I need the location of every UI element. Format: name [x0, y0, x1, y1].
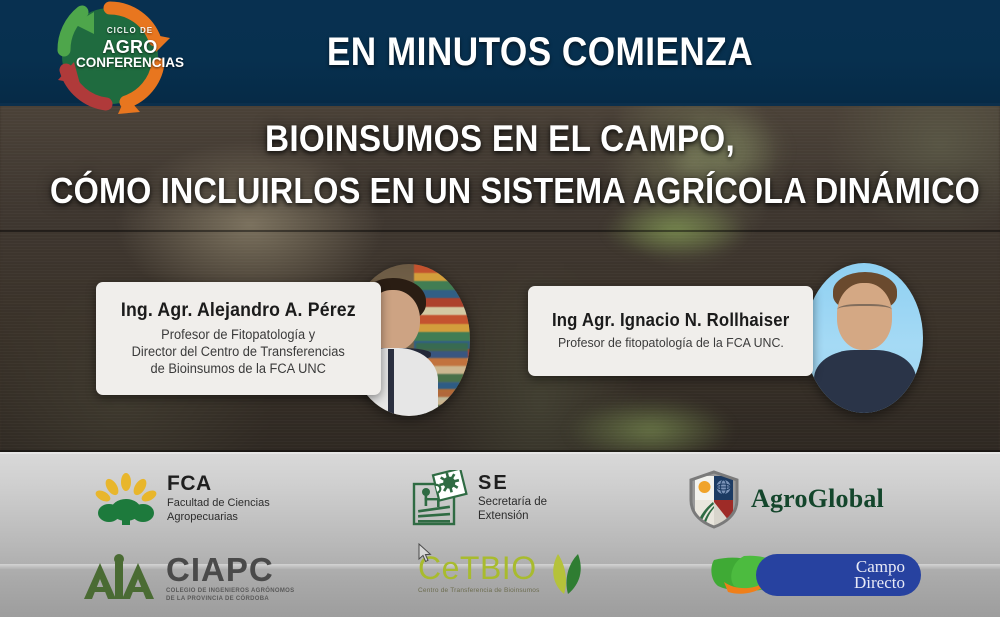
speaker-role-line: Profesor de fitopatología de la FCA UNC. — [558, 335, 784, 352]
agroglobal-name: AgroGlobal — [751, 484, 884, 514]
sponsor-ciapc: CIAPC COLEGIO DE INGENIEROS AGRÓNOMOS DE… — [82, 553, 294, 604]
sponsor-fca: FCA Facultad de Ciencias Agropecuarias — [95, 470, 270, 528]
logo-text-block: CICLO DE AGRO CONFERENCIAS — [74, 26, 186, 71]
speaker-name-2: Ing Agr. Ignacio N. Rollhaiser — [552, 310, 789, 331]
sponsor-cetbio: CeTBIO Centro de Transferencia de Bioins… — [418, 552, 588, 596]
ciapc-sub-2: DE LA PROVINCIA DE CÓRDOBA — [166, 596, 294, 604]
campo-directo-line-2: Directo — [854, 575, 905, 591]
speaker-info-card-1: Ing. Agr. Alejandro A. Pérez Profesor de… — [96, 282, 381, 395]
cetbio-name: CeTBIO — [418, 552, 540, 584]
fca-name: FCA — [167, 473, 270, 494]
speaker-role-line: Director del Centro de Transferencias — [132, 343, 345, 360]
speaker-photo-2 — [805, 263, 923, 413]
se-icon — [412, 470, 468, 526]
cetbio-leaf-icon — [546, 550, 588, 596]
band-divider — [0, 230, 1000, 232]
se-name: SE — [478, 473, 547, 493]
speaker-role-line: de Bioinsumos de la FCA UNC — [132, 360, 345, 377]
fca-text: FCA Facultad de Ciencias Agropecuarias — [167, 473, 270, 525]
se-sub-2: Extensión — [478, 509, 547, 523]
se-sub-1: Secretaría de — [478, 495, 547, 509]
ciapc-sub-1: COLEGIO DE INGENIEROS AGRÓNOMOS — [166, 588, 294, 596]
agro-conferencias-logo: CICLO DE AGRO CONFERENCIAS — [22, 0, 202, 118]
ciapc-name: CIAPC — [166, 553, 294, 586]
sponsor-secretaria-extension: SE Secretaría de Extensión — [412, 470, 547, 526]
speaker-role-2: Profesor de fitopatología de la FCA UNC. — [558, 335, 784, 352]
header-kicker: EN MINUTOS COMIENZA — [267, 22, 813, 82]
conference-title-block: BIOINSUMOS EN EL CAMPO, CÓMO INCLUIRLOS … — [0, 118, 1000, 212]
speaker-info-card-2: Ing Agr. Ignacio N. Rollhaiser Profesor … — [528, 286, 813, 376]
title-line-1: BIOINSUMOS EN EL CAMPO, — [50, 118, 950, 160]
se-text: SE Secretaría de Extensión — [478, 473, 547, 524]
broadcast-slide: EN MINUTOS COMIENZA CICLO DE AGRO CONFER… — [0, 0, 1000, 617]
cetbio-text: CeTBIO Centro de Transferencia de Bioins… — [418, 552, 540, 594]
logo-line-agro: AGRO — [74, 38, 186, 56]
campo-directo-pill: Campo Directo — [756, 554, 921, 596]
speaker-role-1: Profesor de Fitopatología y Director del… — [132, 326, 345, 378]
speaker-name-1: Ing. Agr. Alejandro A. Pérez — [121, 300, 356, 322]
ciapc-text: CIAPC COLEGIO DE INGENIEROS AGRÓNOMOS DE… — [166, 553, 294, 604]
logo-line-conferencias: CONFERENCIAS — [74, 56, 186, 70]
mouse-pointer-icon — [418, 543, 432, 563]
fca-icon — [95, 470, 157, 528]
cetbio-sub: Centro de Transferencia de Bioinsumos — [418, 587, 540, 594]
logo-kicker: CICLO DE — [74, 26, 186, 35]
fca-sub-1: Facultad de Ciencias — [167, 497, 270, 511]
speaker-role-line: Profesor de Fitopatología y — [132, 326, 345, 343]
sponsor-agroglobal: AgroGlobal — [687, 469, 884, 529]
footer-top-seam — [0, 452, 1000, 454]
agroglobal-shield-icon — [687, 469, 741, 529]
ciapc-icon — [82, 553, 156, 603]
fca-sub-2: Agropecuarias — [167, 511, 270, 525]
title-line-2: CÓMO INCLUIRLOS EN UN SISTEMA AGRÍCOLA D… — [50, 170, 950, 212]
sponsor-campo-directo: Campo Directo — [708, 552, 921, 598]
